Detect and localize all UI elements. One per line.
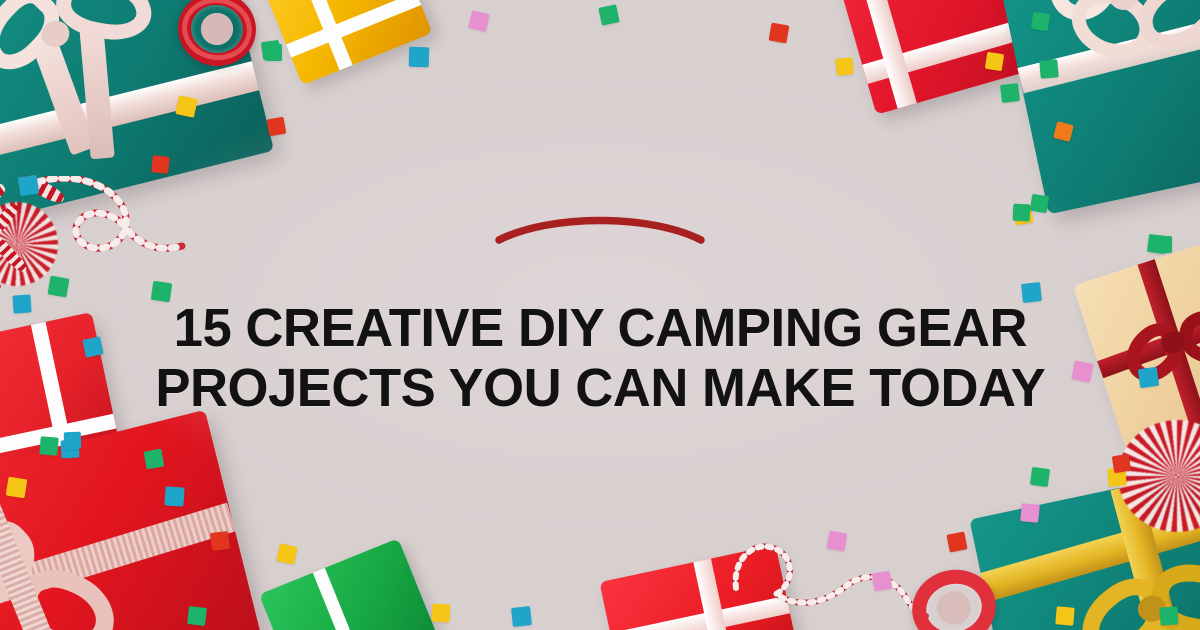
page-title-line-2: PROJECTS YOU CAN MAKE TODAY <box>155 358 1045 418</box>
featured-image-canvas: 15 CREATIVE DIY CAMPING GEAR PROJECTS YO… <box>0 0 1200 630</box>
page-title: 15 CREATIVE DIY CAMPING GEAR PROJECTS YO… <box>135 298 1066 419</box>
title-block: 15 CREATIVE DIY CAMPING GEAR PROJECTS YO… <box>0 0 1200 630</box>
arc-wrap <box>0 212 1200 246</box>
red-arc-icon <box>495 212 705 246</box>
page-title-line-1: 15 CREATIVE DIY CAMPING GEAR <box>155 298 1045 358</box>
